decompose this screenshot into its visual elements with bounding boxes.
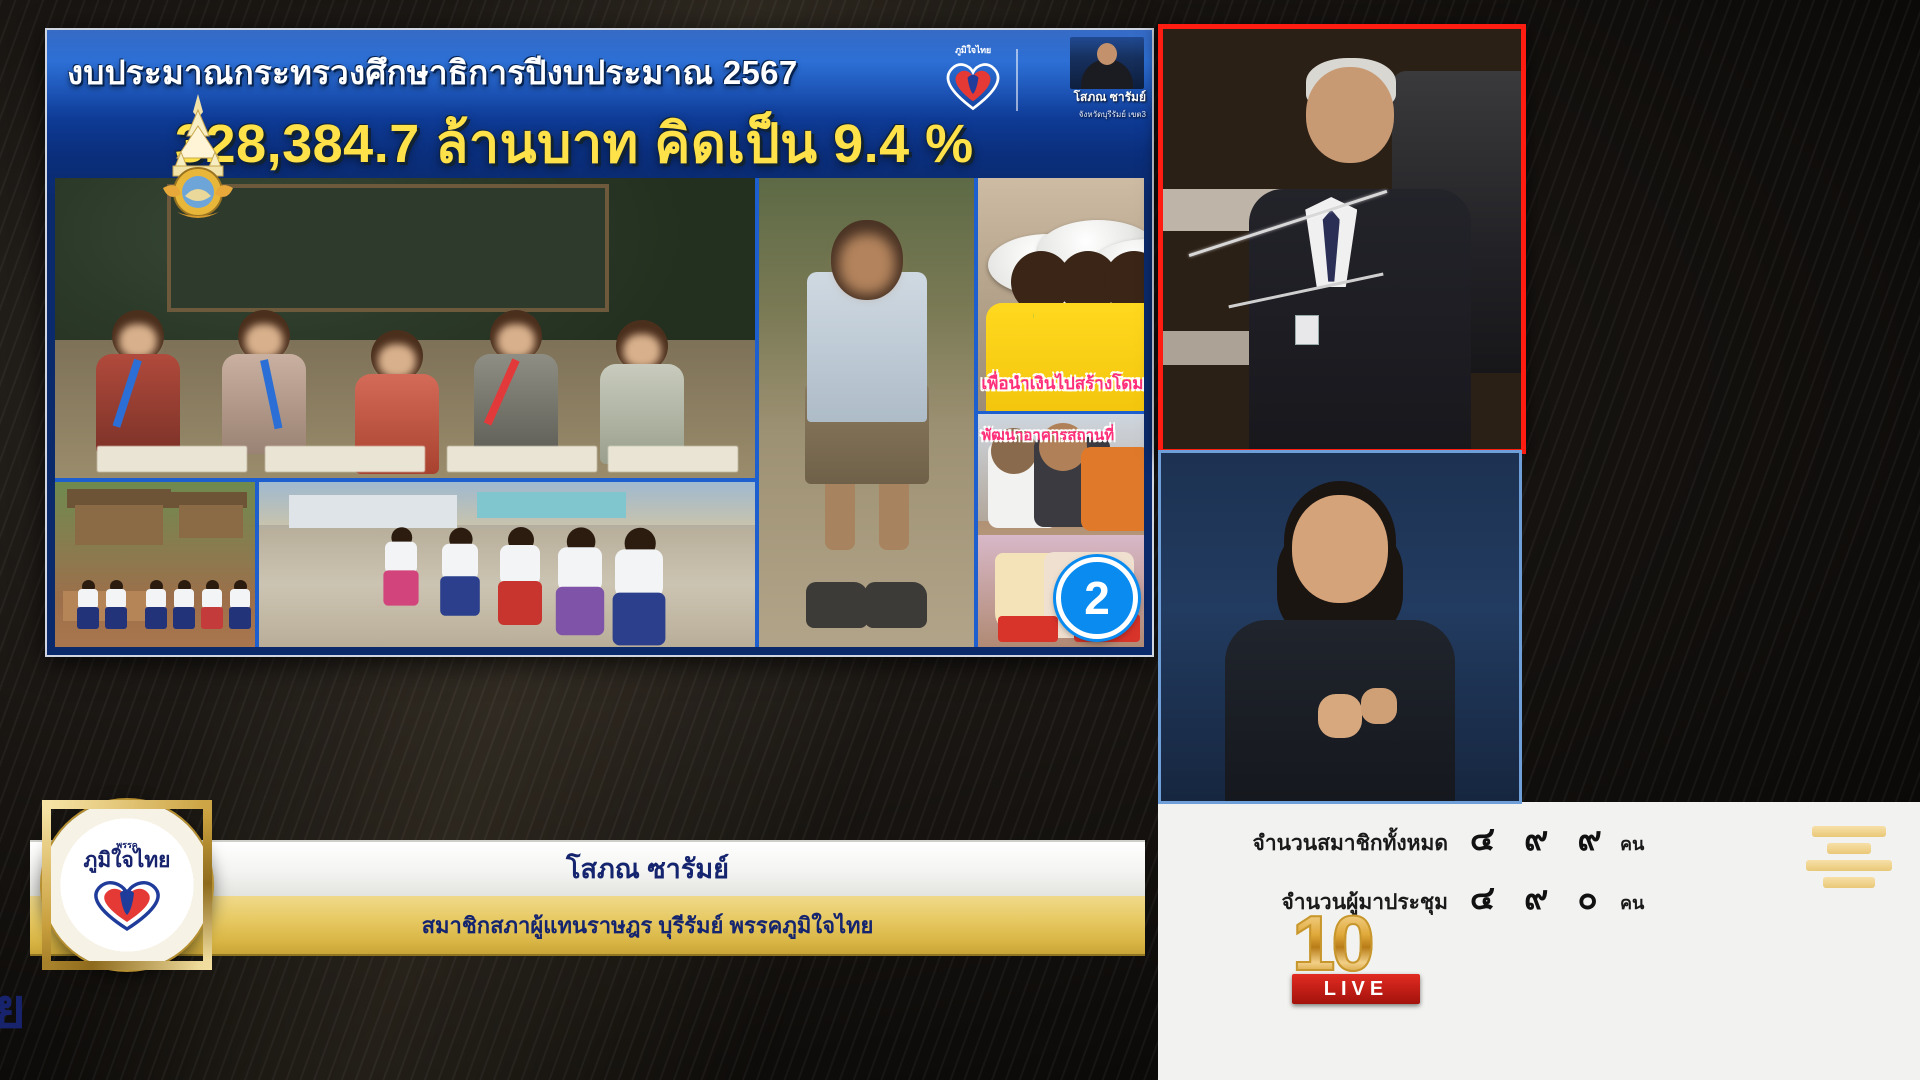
students-walking-photo (259, 482, 755, 647)
live-logo: 10 LIVE (1292, 908, 1452, 1058)
attendance-unit: คน (1620, 888, 1644, 917)
slide-speaker-name: โสภณ ซารัมย์ (1024, 88, 1146, 107)
party-logo-badge: พรรค ภูมิใจไทย (42, 800, 212, 970)
classroom-students-photo (55, 178, 755, 478)
slide-party-speaker-block: ภูมิใจไทย โสภณ ซารัมย์ จังหวัดบุรีรัมย์ … (936, 34, 1146, 126)
attendance-label: จำนวนสมาชิกทั้งหมด (1198, 827, 1470, 860)
party-heart-icon (84, 875, 170, 933)
attendance-panel: จำนวนสมาชิกทั้งหมด ๔ ๙ ๙ คน จำนวนผู้มาปร… (1158, 802, 1920, 1080)
attendance-rows: จำนวนสมาชิกทั้งหมด ๔ ๙ ๙ คน จำนวนผู้มาปร… (1198, 812, 1818, 930)
attendance-value: ๔ ๙ ๐ (1470, 871, 1620, 924)
stray-text-fragment: ย (0, 965, 26, 1051)
sign-language-interpreter-feed (1158, 450, 1522, 804)
collage-left-bottom-row (55, 482, 755, 647)
speaker-thumbnail-photo (1070, 37, 1144, 89)
collage-left-column (55, 178, 755, 647)
slide-speaker-province: จังหวัดบุรีรัมย์ เขต3 (1024, 108, 1146, 121)
attendance-row: จำนวนผู้มาประชุม ๔ ๙ ๐ คน (1198, 871, 1818, 924)
photo-collage: เพื่อนำเงินไปสร้างโดมอเนกประสงค์ จ้างครู… (55, 178, 1144, 647)
student-standing-photo (759, 178, 974, 647)
attendance-value: ๔ ๙ ๙ (1470, 812, 1620, 865)
presentation-slide: งบประมาณกระทรวงศึกษาธิการปีงบประมาณ 2567… (45, 28, 1154, 657)
royal-emblem-icon (143, 92, 253, 222)
photo-overlay-caption-1: เพื่อนำเงินไปสร้างโดมอเนกประสงค์ จ้างครู… (981, 370, 1144, 397)
menu-bars-icon[interactable] (1806, 826, 1892, 888)
school-lunch-photo: เพื่อนำเงินไปสร้างโดมอเนกประสงค์ จ้างครู… (978, 178, 1144, 411)
photo-overlay-caption-2: พัฒนาอาคารสถานที่ (981, 423, 1114, 447)
speaker-camera-feed (1158, 24, 1526, 454)
live-channel-number: 10 (1292, 908, 1452, 978)
party-logo-name: ภูมิใจไทย (84, 850, 171, 871)
attendance-unit: คน (1620, 829, 1644, 858)
slide-speaker-thumb: โสภณ ซารัมย์ จังหวัดบุรีรัมย์ เขต3 (1024, 37, 1146, 123)
broadcast-screen: งบประมาณกระทรวงศึกษาธิการปีงบประมาณ 2567… (0, 0, 1920, 1080)
school-buildings-photo (55, 482, 255, 647)
channel-number-badge: 2 (1056, 557, 1138, 639)
vertical-divider (1016, 49, 1018, 111)
party-logo-small-icon: ภูมิใจไทย (936, 40, 1010, 120)
attendance-row: จำนวนสมาชิกทั้งหมด ๔ ๙ ๙ คน (1198, 812, 1818, 865)
